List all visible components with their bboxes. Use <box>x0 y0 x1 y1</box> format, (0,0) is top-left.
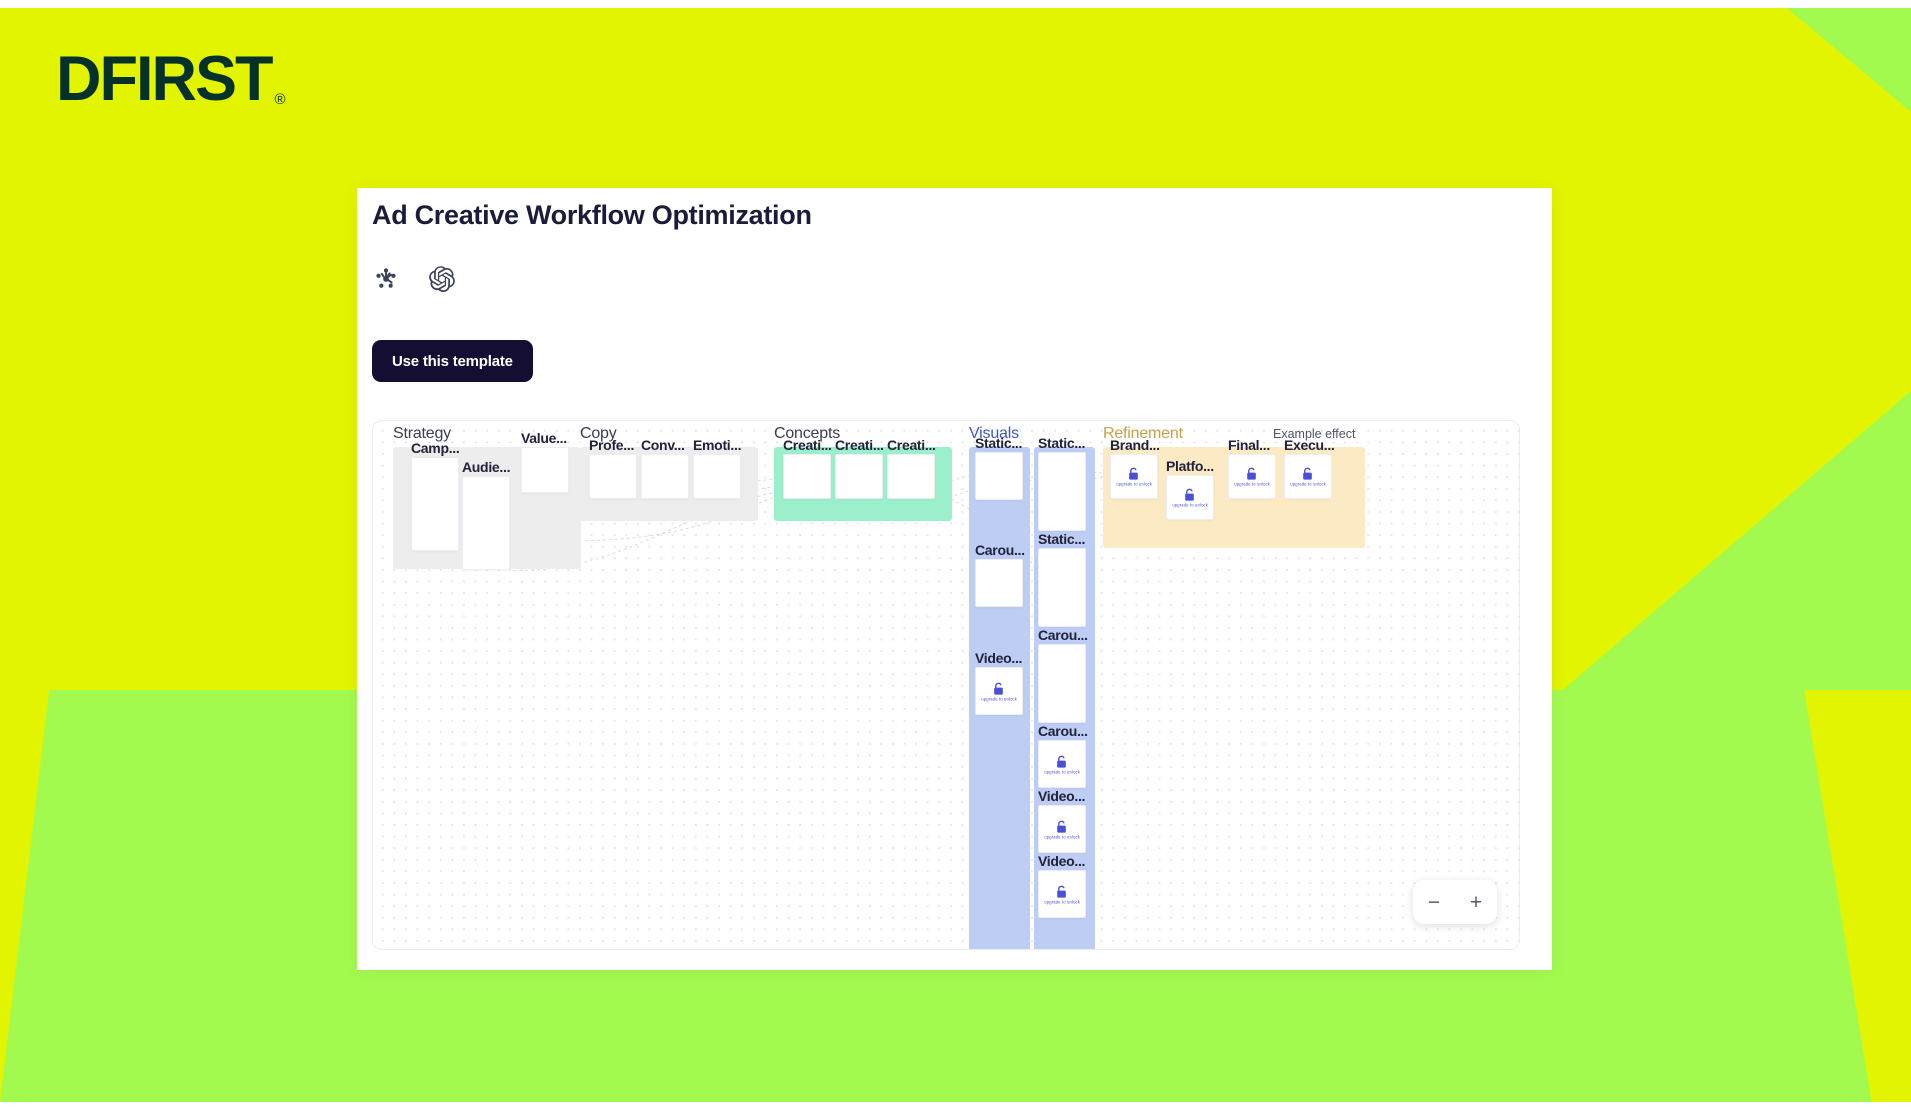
upgrade-to-unlock-label: upgrade to unlock <box>1172 503 1208 508</box>
zoom-out-button[interactable]: − <box>1421 889 1447 915</box>
locked-badge: upgrade to unlock <box>1179 488 1201 507</box>
sticky-note-card[interactable]: upgrade to unlock <box>975 667 1023 715</box>
upgrade-to-unlock-label: upgrade to unlock <box>1290 482 1326 487</box>
card-title: Creati... <box>835 437 884 453</box>
locked-badge: upgrade to unlock <box>1051 820 1073 839</box>
card-title: Carou... <box>1038 723 1088 739</box>
sticky-note-card[interactable] <box>975 452 1023 500</box>
claude-asterisk-icon <box>373 266 399 292</box>
card-title: Creati... <box>783 437 832 453</box>
card-title: Brand... <box>1110 437 1160 453</box>
card-title: Emoti... <box>693 437 741 453</box>
upgrade-to-unlock-label: upgrade to unlock <box>981 697 1017 702</box>
card-title: Video... <box>1038 788 1085 804</box>
card-title: Video... <box>1038 853 1085 869</box>
card-title: Profe... <box>589 437 634 453</box>
page-title: Ad Creative Workflow Optimization <box>372 200 812 231</box>
upgrade-to-unlock-label: upgrade to unlock <box>1234 482 1270 487</box>
card-title: Static... <box>1038 531 1085 547</box>
card-title: Carou... <box>975 542 1025 558</box>
lock-icon <box>992 682 1005 696</box>
sticky-note-card[interactable] <box>693 454 741 499</box>
registered-trademark-icon: ® <box>274 92 285 107</box>
sticky-note-card[interactable] <box>887 454 935 499</box>
sticky-note-card[interactable] <box>521 447 569 493</box>
whiteboard-canvas[interactable]: StrategyCamp...Audie...Value...CopyProfe… <box>372 420 1520 950</box>
card-title: Audie... <box>462 459 510 475</box>
sticky-note-card[interactable]: upgrade to unlock <box>1228 454 1276 499</box>
dfirst-logo: DFIRST ® <box>56 48 286 111</box>
sticky-note-card[interactable] <box>975 559 1023 607</box>
locked-badge: upgrade to unlock <box>1051 755 1073 774</box>
locked-badge: upgrade to unlock <box>1241 467 1263 486</box>
sticky-note-card[interactable] <box>1038 452 1086 531</box>
card-title: Platfo... <box>1166 458 1214 474</box>
lock-icon <box>1055 755 1068 769</box>
zoom-controls[interactable]: − + <box>1413 880 1497 924</box>
locked-badge: upgrade to unlock <box>988 682 1010 701</box>
sticky-note-card[interactable] <box>835 454 883 499</box>
upgrade-to-unlock-label: upgrade to unlock <box>1044 770 1080 775</box>
card-title: Video... <box>975 650 1022 666</box>
sticky-note-card[interactable]: upgrade to unlock <box>1038 740 1086 788</box>
template-card: Ad Creative Workflow Optimization Use th… <box>357 188 1552 970</box>
upgrade-to-unlock-label: upgrade to unlock <box>1044 900 1080 905</box>
card-title: Creati... <box>887 437 936 453</box>
openai-icon <box>429 266 455 292</box>
sticky-note-card[interactable]: upgrade to unlock <box>1284 454 1332 499</box>
card-title: Camp... <box>411 440 459 456</box>
lock-icon <box>1055 885 1068 899</box>
sticky-note-card[interactable]: upgrade to unlock <box>1038 805 1086 853</box>
sticky-note-card[interactable] <box>783 454 831 499</box>
example-effect-label: Example effect <box>1273 427 1355 441</box>
sticky-note-card[interactable] <box>462 476 510 570</box>
card-title: Carou... <box>1038 627 1088 643</box>
zoom-in-button[interactable]: + <box>1463 889 1489 915</box>
lock-icon <box>1183 488 1196 502</box>
sticky-note-card[interactable] <box>1038 644 1086 723</box>
card-title: Conv... <box>641 437 685 453</box>
card-title: Static... <box>975 435 1022 451</box>
sticky-note-card[interactable] <box>1038 548 1086 627</box>
logo-wordmark: DFIRST <box>56 48 271 111</box>
sticky-note-card[interactable] <box>641 454 689 499</box>
sticky-note-card[interactable] <box>589 454 637 499</box>
lock-icon <box>1245 467 1258 481</box>
upgrade-to-unlock-label: upgrade to unlock <box>1044 835 1080 840</box>
locked-badge: upgrade to unlock <box>1123 467 1145 486</box>
card-title: Value... <box>521 430 567 446</box>
lock-icon <box>1055 820 1068 834</box>
sticky-note-card[interactable]: upgrade to unlock <box>1110 454 1158 499</box>
lock-icon <box>1127 467 1140 481</box>
locked-badge: upgrade to unlock <box>1051 885 1073 904</box>
ai-tool-icons <box>373 266 455 292</box>
upgrade-to-unlock-label: upgrade to unlock <box>1116 482 1152 487</box>
locked-badge: upgrade to unlock <box>1297 467 1319 486</box>
sticky-note-card[interactable] <box>411 457 459 551</box>
card-title: Static... <box>1038 435 1085 451</box>
lock-icon <box>1301 467 1314 481</box>
sticky-note-card[interactable]: upgrade to unlock <box>1166 475 1214 520</box>
card-title: Final... <box>1228 437 1270 453</box>
use-this-template-button[interactable]: Use this template <box>372 340 533 382</box>
sticky-note-card[interactable]: upgrade to unlock <box>1038 870 1086 918</box>
